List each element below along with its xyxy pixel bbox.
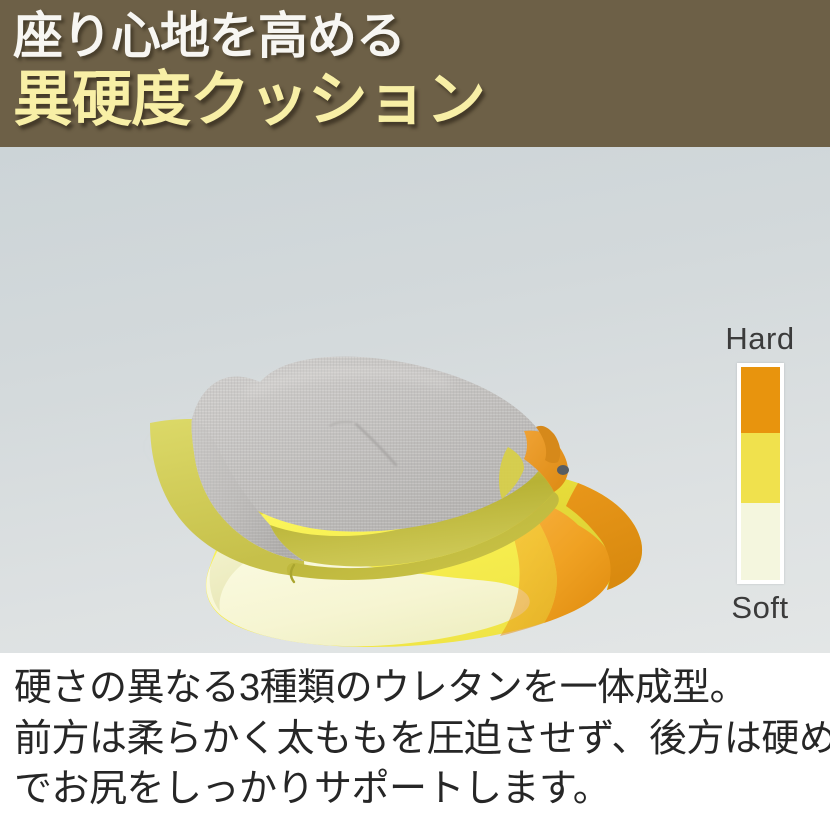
product-description: 硬さの異なる3種類のウレタンを一体成型。 前方は柔らかく太ももを圧迫させず、後方… [0, 653, 830, 830]
caption-line-2: 前方は柔らかく太ももを圧迫させず、後方は硬め [14, 714, 818, 765]
header-title-line1: 座り心地を高める [13, 8, 405, 64]
upper-rear-cap-dot [557, 465, 569, 475]
product-feature-infographic: 座り心地を高める 異硬度クッション [0, 0, 830, 830]
caption-line-3: でお尻をしっかりサポートします。 [14, 764, 818, 815]
header-banner: 座り心地を高める 異硬度クッション [0, 0, 830, 147]
header-title-line2: 異硬度クッション [13, 66, 485, 133]
caption-line-1: 硬さの異なる3種類のウレタンを一体成型。 [14, 663, 818, 714]
exploded-cushion-illustration [0, 147, 830, 653]
illustration-stage: Hard Soft [0, 147, 830, 653]
